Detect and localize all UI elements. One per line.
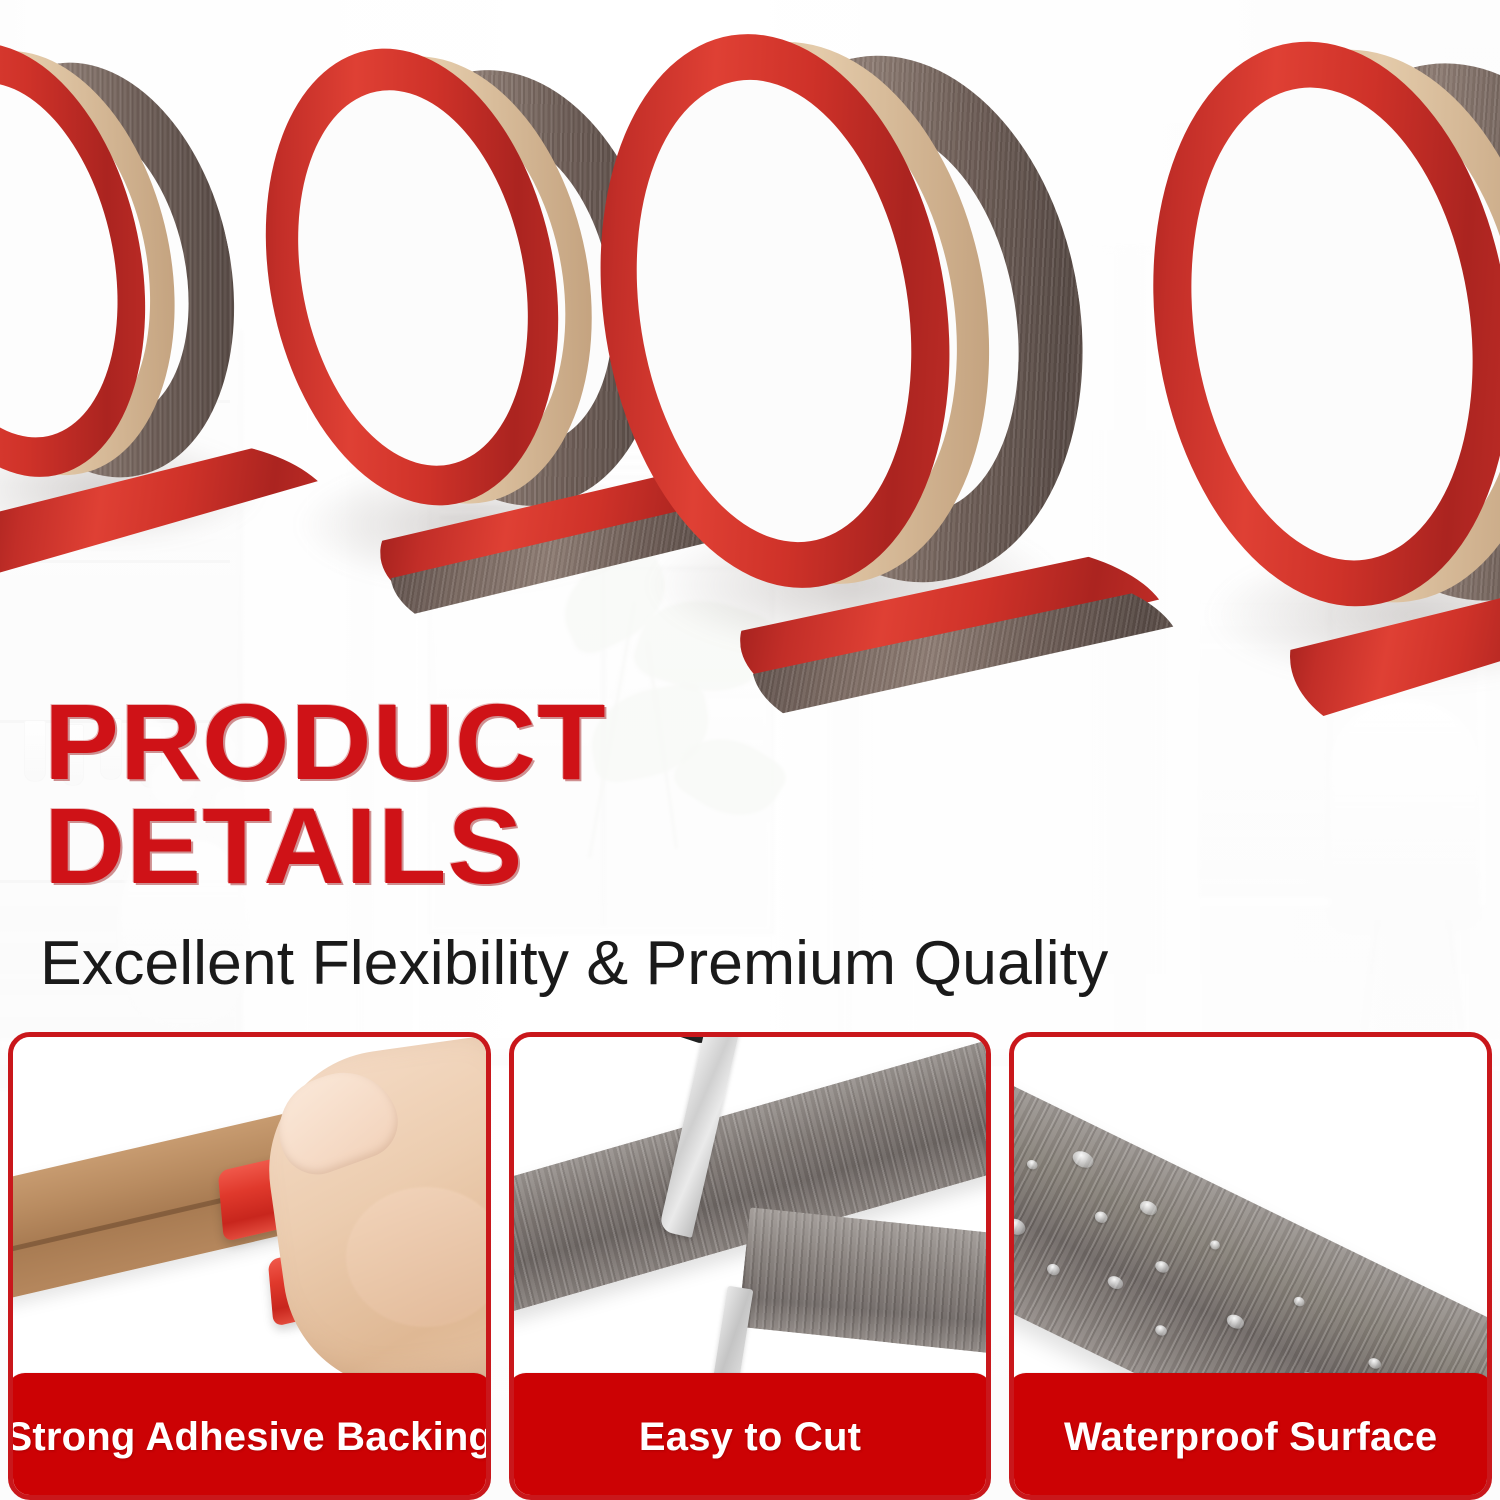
feature-panel-easy-to-cut[interactable]: Easy to Cut (509, 1032, 992, 1500)
water-droplet (1070, 1148, 1096, 1171)
water-droplet (1225, 1312, 1247, 1332)
feature-panel-row: Strong Adhesive Backing Easy to Cut (0, 1032, 1500, 1500)
water-droplet (1367, 1356, 1383, 1371)
feature-panel-waterproof-surface[interactable]: Waterproof Surface (1009, 1032, 1492, 1500)
water-droplet (1138, 1198, 1160, 1218)
water-droplet (1014, 1216, 1028, 1238)
panel-caption-bar: Easy to Cut (509, 1373, 992, 1500)
panel-caption-bar: Strong Adhesive Backing (8, 1373, 491, 1500)
water-droplet (1093, 1209, 1110, 1225)
panel-caption-bar: Waterproof Surface (1009, 1373, 1492, 1500)
water-droplet (1106, 1274, 1126, 1292)
water-droplet (1154, 1259, 1171, 1275)
feature-panel-strong-adhesive-backing[interactable]: Strong Adhesive Backing (8, 1032, 491, 1500)
edge-banding-coils (0, 40, 1500, 720)
panel-caption-text: Easy to Cut (639, 1415, 861, 1460)
subheadline: Excellent Flexibility & Premium Quality (40, 933, 1108, 995)
panel-caption-text: Waterproof Surface (1064, 1415, 1437, 1460)
product-detail-infographic: PRODUCT DETAILS Excellent Flexibility & … (0, 0, 1500, 1500)
water-droplet (1293, 1295, 1307, 1308)
water-droplet (1045, 1262, 1062, 1278)
headline-block: PRODUCT DETAILS (44, 690, 944, 897)
water-droplet (1154, 1323, 1169, 1337)
edge-banding-strip (737, 1207, 986, 1361)
panel-caption-text: Strong Adhesive Backing (8, 1415, 491, 1460)
water-droplet (1209, 1239, 1222, 1251)
page-title: PRODUCT DETAILS (44, 690, 980, 897)
water-droplet (1026, 1158, 1040, 1171)
